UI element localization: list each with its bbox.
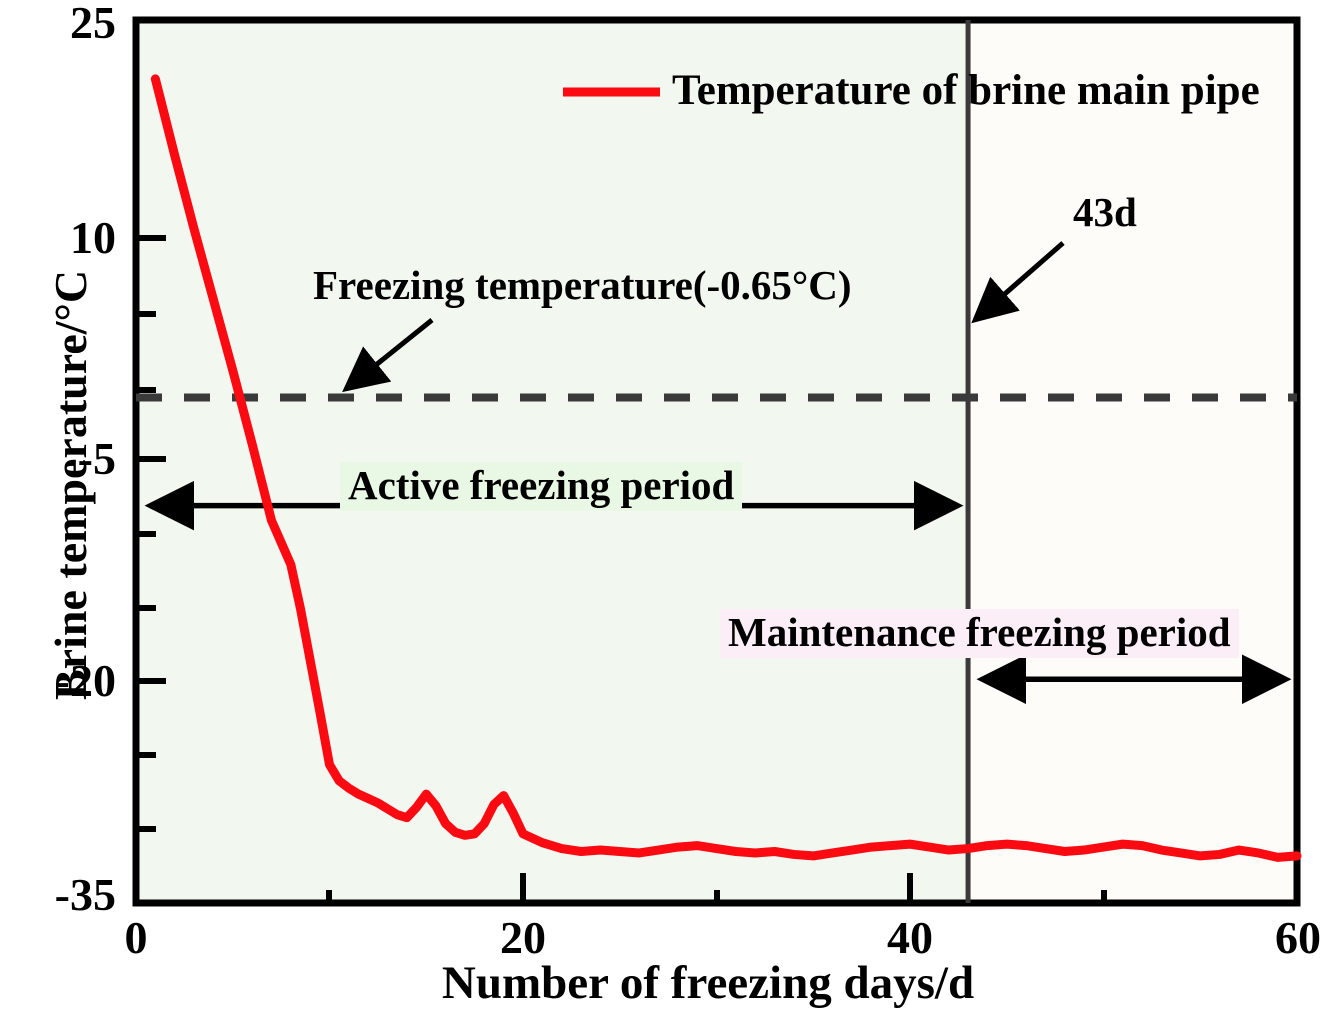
x-tick-label-0: 0 xyxy=(106,915,166,961)
maintenance-freezing-period-label: Maintenance freezing period xyxy=(720,609,1239,658)
active-freezing-period-label: Active freezing period xyxy=(340,462,742,511)
x-tick-label-60: 60 xyxy=(1268,915,1325,961)
x-tick-label-40: 40 xyxy=(880,915,940,961)
marker-43d-annotation: 43d xyxy=(1073,192,1137,233)
legend-entry-label: Temperature of brine main pipe xyxy=(672,69,1260,112)
maintenance-freezing-region xyxy=(968,20,1297,903)
x-tick-label-20: 20 xyxy=(493,915,553,961)
brine-temperature-chart xyxy=(0,0,1325,1024)
y-tick-label-10: 10 xyxy=(0,215,116,261)
y-axis-title: Brine temperature/°C xyxy=(48,270,94,700)
figure-container: 25 10 -5 -20 -35 0 20 40 60 Brine temper… xyxy=(0,0,1325,1024)
x-axis-title: Number of freezing days/d xyxy=(113,960,1303,1007)
y-tick-label-minus35: -35 xyxy=(0,872,116,918)
freezing-temperature-annotation: Freezing temperature(-0.65°C) xyxy=(313,265,852,306)
y-tick-label-25: 25 xyxy=(0,0,116,46)
